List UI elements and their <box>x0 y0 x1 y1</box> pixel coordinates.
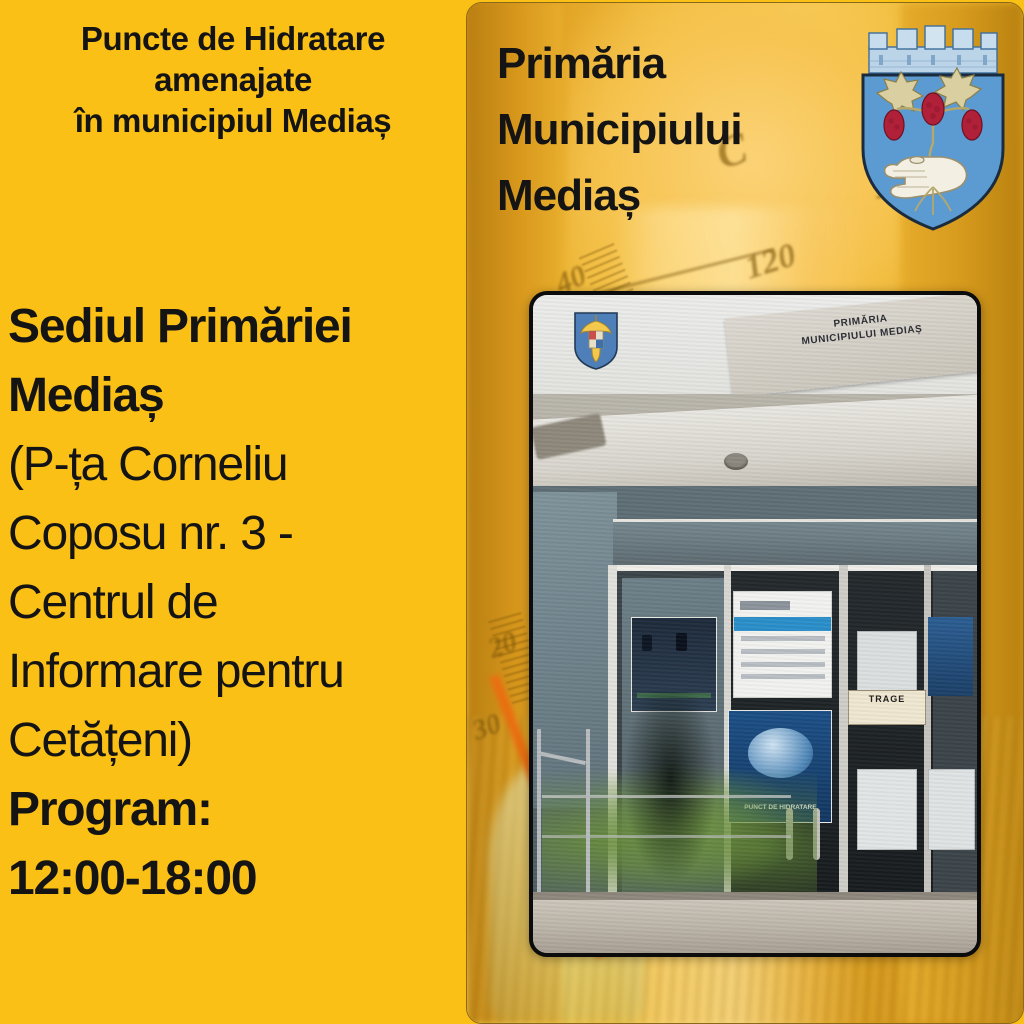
photo-mullion-2 <box>839 565 848 933</box>
poster-info-header <box>740 601 791 610</box>
location-details-block: Sediul Primăriei Mediaș (P-ța Corneliu C… <box>8 292 466 913</box>
schedule-hours: 12:00-18:00 <box>8 844 466 913</box>
scale-label-30: 30 <box>468 708 505 748</box>
photo-door-notice-3 <box>928 769 974 850</box>
poster-root: Puncte de Hidratare amenajate în municip… <box>0 0 1024 1024</box>
address-line-2: Coposu nr. 3 - <box>8 499 466 568</box>
address-line-3: Centrul de <box>8 568 466 637</box>
romania-coat-of-arms-icon <box>573 311 619 371</box>
org-title-line-2: Municipiului <box>497 97 897 163</box>
headline-line-2: amenajate <box>0 59 466 100</box>
photo-plinth-edge <box>533 892 977 900</box>
poster-info-row-4 <box>741 674 825 679</box>
location-name-line-2: Mediaș <box>8 361 466 430</box>
org-title-line-1: Primăria <box>497 31 897 97</box>
address-line-5: Cetățeni) <box>8 706 466 775</box>
poster-figure-2 <box>676 633 687 651</box>
org-title-line-3: Mediaș <box>497 163 897 229</box>
right-image-panel: C F 120 40 20 30 Primăria Municipiului M… <box>466 2 1024 1024</box>
photo-door-poster-info <box>733 591 833 698</box>
mural-crown-icon <box>869 26 997 73</box>
address-line-4: Informare pentru <box>8 637 466 706</box>
address-line-1: (P-ța Corneliu <box>8 430 466 499</box>
poster-info-row-3 <box>741 662 825 667</box>
poster-info-bluebar <box>734 617 832 631</box>
mediaș-coat-of-arms-icon <box>853 17 1013 237</box>
photo-door-notice-1 <box>857 631 917 699</box>
scale-label-120: 120 <box>741 236 801 287</box>
photo-door-poster-small <box>928 617 972 696</box>
pull-sign-label: TRAGE <box>849 691 924 724</box>
city-hall-entrance-photo: PRIMĂRIA MUNICIPIULUI MEDIAȘ <box>529 291 981 957</box>
headline-line-3: în municipiul Mediaș <box>0 100 466 141</box>
schedule-label: Program: <box>8 775 466 844</box>
poster-info-row-1 <box>741 636 825 641</box>
poster-figure-1 <box>642 635 652 651</box>
poster-headline: Puncte de Hidratare amenajate în municip… <box>0 18 466 141</box>
organisation-title: Primăria Municipiului Mediaș <box>497 31 897 229</box>
photo-pull-sign: TRAGE <box>848 690 925 725</box>
poster-info-row-2 <box>741 649 825 654</box>
photo-stone-plinth <box>533 900 977 953</box>
location-name-line-1: Sediul Primăriei <box>8 292 466 361</box>
left-info-panel: Puncte de Hidratare amenajate în municip… <box>0 0 466 1024</box>
photo-dark-shrub <box>622 690 720 887</box>
photo-transom-window <box>613 519 977 571</box>
photo-door-notice-2 <box>857 769 917 850</box>
headline-line-1: Puncte de Hidratare <box>0 18 466 59</box>
photo-ceiling-light <box>724 453 748 470</box>
